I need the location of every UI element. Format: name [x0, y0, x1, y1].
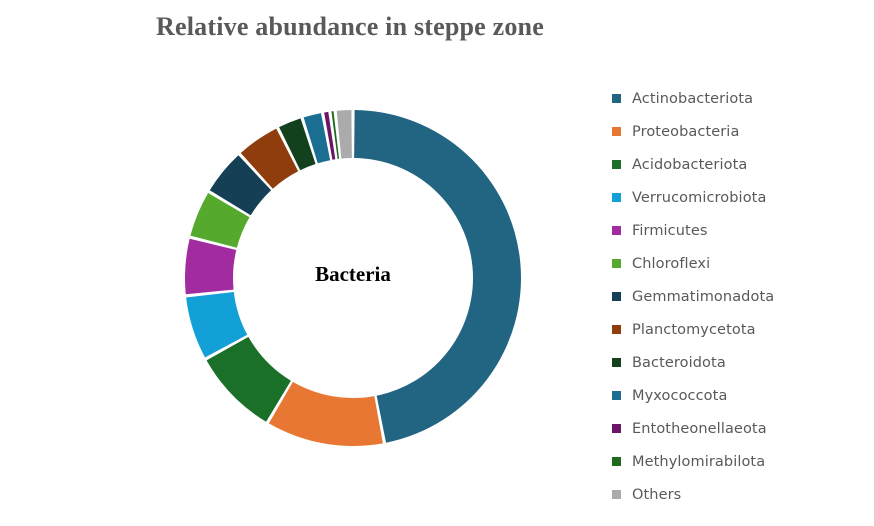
legend-item-label: Others	[632, 487, 681, 503]
legend-item-label: Entotheonellaeota	[632, 421, 767, 437]
legend-item[interactable]: Verrucomicrobiota	[612, 181, 868, 214]
legend-item[interactable]: Gemmatimonadota	[612, 280, 868, 313]
legend-swatch-icon	[612, 259, 621, 268]
donut-slice[interactable]	[337, 110, 352, 159]
legend-swatch-icon	[612, 193, 621, 202]
legend-swatch-icon	[612, 391, 621, 400]
chart-page: Relative abundance in steppe zone Bacter…	[0, 0, 874, 526]
legend-item-label: Chloroflexi	[632, 256, 710, 272]
legend-swatch-icon	[612, 127, 621, 136]
legend-item[interactable]: Proteobacteria	[612, 115, 868, 148]
donut-chart: Bacteria	[185, 110, 521, 446]
legend-item[interactable]: Actinobacteriota	[612, 82, 868, 115]
donut-slice-group	[185, 110, 521, 446]
legend-item[interactable]: Acidobacteriota	[612, 148, 868, 181]
legend-item-label: Acidobacteriota	[632, 157, 747, 173]
legend-item-label: Myxococcota	[632, 388, 727, 404]
legend-item[interactable]: Chloroflexi	[612, 247, 868, 280]
legend-swatch-icon	[612, 490, 621, 499]
legend-item-label: Verrucomicrobiota	[632, 190, 766, 206]
legend-item-label: Actinobacteriota	[632, 91, 753, 107]
legend-swatch-icon	[612, 325, 621, 334]
legend-swatch-icon	[612, 457, 621, 466]
legend-item-label: Methylomirabilota	[632, 454, 765, 470]
donut-slice[interactable]	[185, 239, 236, 294]
legend-item[interactable]: Firmicutes	[612, 214, 868, 247]
legend-item-label: Firmicutes	[632, 223, 708, 239]
legend-item[interactable]: Planctomycetota	[612, 313, 868, 346]
legend-item[interactable]: Bacteroidota	[612, 346, 868, 379]
donut-slice[interactable]	[354, 110, 521, 443]
legend-swatch-icon	[612, 94, 621, 103]
legend-item-label: Bacteroidota	[632, 355, 726, 371]
chart-legend: ActinobacteriotaProteobacteriaAcidobacte…	[612, 82, 868, 511]
legend-item[interactable]: Methylomirabilota	[612, 445, 868, 478]
legend-swatch-icon	[612, 226, 621, 235]
legend-swatch-icon	[612, 424, 621, 433]
legend-item[interactable]: Entotheonellaeota	[612, 412, 868, 445]
legend-item[interactable]: Others	[612, 478, 868, 511]
donut-slice[interactable]	[269, 382, 383, 446]
page-title: Relative abundance in steppe zone	[0, 12, 700, 42]
legend-item-label: Gemmatimonadota	[632, 289, 774, 305]
legend-swatch-icon	[612, 358, 621, 367]
legend-item[interactable]: Myxococcota	[612, 379, 868, 412]
donut-chart-svg	[185, 110, 521, 446]
legend-swatch-icon	[612, 160, 621, 169]
legend-item-label: Planctomycetota	[632, 322, 756, 338]
legend-swatch-icon	[612, 292, 621, 301]
legend-item-label: Proteobacteria	[632, 124, 739, 140]
